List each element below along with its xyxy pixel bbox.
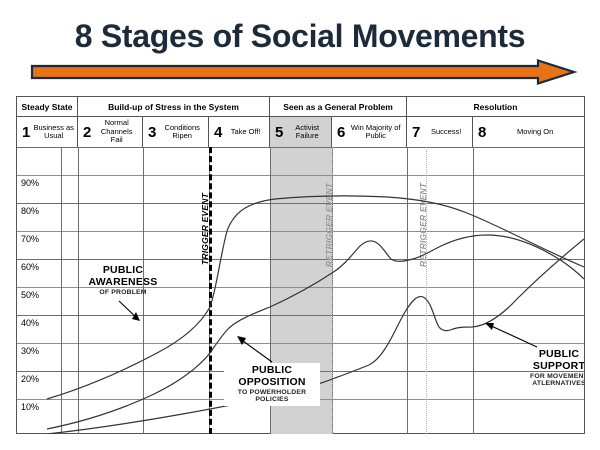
stage-cell-7[interactable]: 7 Success! xyxy=(407,116,473,147)
phase-buildup: Build-up of Stress in the System xyxy=(78,97,270,116)
stage-label-5: Activist Failure xyxy=(286,124,331,141)
annotation-opposition-line1: PUBLIC xyxy=(228,365,316,377)
annotation-awareness-subtitle: OF PROBLEM xyxy=(81,289,165,297)
stage-cell-1[interactable]: 1 Business as Usual xyxy=(17,116,78,147)
stage-number-2: 2 xyxy=(78,125,94,140)
plot-area: 90% 80% 70% 60% 50% 40% 30% 20% 10% TRIG… xyxy=(17,147,584,434)
phase-steady-state: Steady State xyxy=(17,97,78,116)
stages-chart: Steady State Build-up of Stress in the S… xyxy=(16,96,585,434)
stage-cell-2[interactable]: 2 Normal Channels Fail xyxy=(78,116,143,147)
phase-general-problem: Seen as a General Problem xyxy=(270,97,407,116)
annotation-support-sub1: FOR MOVEMENT xyxy=(515,373,584,381)
stage-number-7: 7 xyxy=(407,125,423,140)
stage-cell-8[interactable]: 8 Moving On xyxy=(473,116,584,147)
annotation-opposition-sub2: POLICIES xyxy=(228,396,316,404)
stage-number-3: 3 xyxy=(143,125,159,140)
phase-resolution: Resolution xyxy=(407,97,584,116)
annotation-public-awareness: PUBLIC AWARENESS OF PROBLEM xyxy=(81,265,165,296)
stage-number-1: 1 xyxy=(17,125,33,140)
annotation-awareness-line2: AWARENESS xyxy=(81,277,165,289)
annotation-awareness-line1: PUBLIC xyxy=(81,265,165,277)
stage-cell-3[interactable]: 3 Conditions Ripen xyxy=(143,116,209,147)
stage-label-2: Normal Channels Fail xyxy=(94,119,142,144)
page-title: 8 Stages of Social Movements xyxy=(0,20,600,52)
stage-label-3: Conditions Ripen xyxy=(159,124,208,141)
timeline-arrow xyxy=(30,60,576,84)
stage-label-4: Take Off! xyxy=(225,128,269,136)
annotation-arrows xyxy=(119,301,537,362)
stage-header-row: 1 Business as Usual 2 Normal Channels Fa… xyxy=(17,116,584,147)
stage-cell-6[interactable]: 6 Win Majority of Public xyxy=(332,116,407,147)
stage-number-5: 5 xyxy=(270,125,286,140)
annotation-support-sub2: ATLERNATIVES xyxy=(515,380,584,388)
phase-header-row: Steady State Build-up of Stress in the S… xyxy=(17,97,584,116)
annotation-public-opposition: PUBLIC OPPOSITION TO POWERHOLDER POLICIE… xyxy=(224,363,320,406)
stage-label-6: Win Majority of Public xyxy=(348,124,406,141)
annotation-public-support: PUBLIC SUPPORT FOR MOVEMENT ATLERNATIVES xyxy=(515,349,584,388)
stage-cell-4[interactable]: 4 Take Off! xyxy=(209,116,270,147)
stage-number-8: 8 xyxy=(473,125,489,140)
annotation-opposition-line2: OPPOSITION xyxy=(228,377,316,389)
stage-label-7: Success! xyxy=(423,128,472,136)
stage-label-8: Moving On xyxy=(489,128,584,136)
stage-number-6: 6 xyxy=(332,125,348,140)
annotation-support-line1: PUBLIC xyxy=(515,349,584,361)
annotation-support-line2: SUPPORT xyxy=(515,361,584,373)
stage-cell-5[interactable]: 5 Activist Failure xyxy=(270,116,332,147)
stage-number-4: 4 xyxy=(209,125,225,140)
annotation-opposition-sub1: TO POWERHOLDER xyxy=(228,389,316,397)
stage-label-1: Business as Usual xyxy=(33,124,77,141)
